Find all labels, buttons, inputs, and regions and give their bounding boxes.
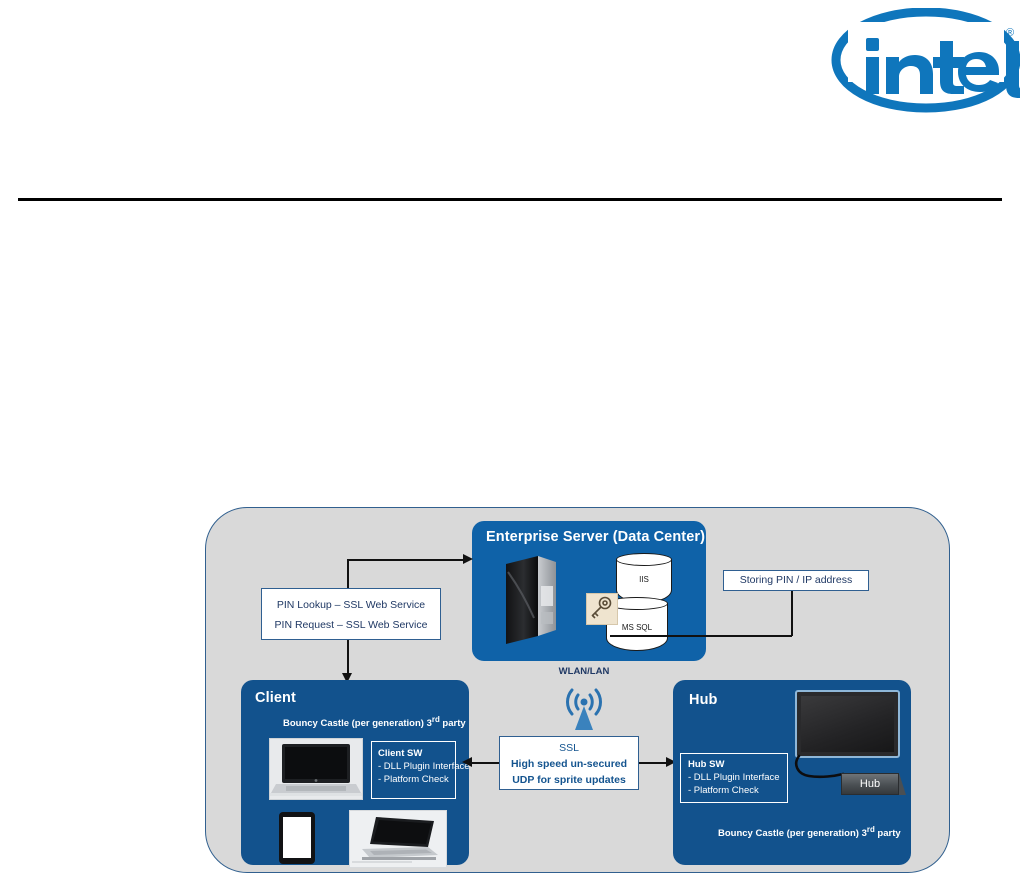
hub-sw-item-platform: - Platform Check [688, 784, 787, 797]
client-sw-item-dll: - DLL Plugin Interface [378, 760, 455, 773]
client-title: Client [255, 690, 296, 706]
ssl-label: SSL [500, 740, 638, 756]
client-bouncy-sup: rd [432, 715, 440, 724]
hub-bouncy-suffix: party [875, 828, 901, 839]
tablet-screen [283, 817, 311, 858]
storing-pin-callout: Storing PIN / IP address [723, 570, 869, 591]
pin-lookup-label: PIN Lookup – SSL Web Service [262, 595, 440, 615]
hub-title: Hub [689, 692, 718, 708]
database-iis-label: IIS [616, 575, 672, 584]
ssl-line-udp: UDP for sprite updates [500, 772, 638, 788]
ssl-to-client-line [471, 762, 500, 764]
architecture-diagram: Enterprise Server (Data Center) [205, 507, 950, 873]
hub-sw-item-dll: - DLL Plugin Interface [688, 771, 787, 784]
hub-node: Hub Hub Hub SW - DLL Plugin Interface - … [673, 680, 911, 865]
server-tower-icon [504, 556, 560, 644]
hub-bouncy-sup: rd [867, 825, 875, 834]
storing-pin-leader-vertical [791, 591, 793, 636]
client-bouncy-suffix: party [440, 718, 466, 729]
tv-screen [801, 696, 894, 752]
storing-pin-leader-horizontal [610, 635, 792, 637]
hub-sw-title: Hub SW [688, 758, 787, 771]
arrow-to-server-head [463, 554, 473, 564]
key-icon [586, 593, 618, 625]
client-sw-item-platform: - Platform Check [378, 773, 455, 786]
ssl-line-highspeed: High speed un-secured [500, 756, 638, 772]
client-laptop-image-2 [349, 810, 447, 868]
arrow-client-to-server-line [347, 559, 465, 561]
client-bouncy-castle-label: Bouncy Castle (per generation) 3rd party [283, 715, 466, 729]
page-header: ® [0, 0, 1020, 200]
hub-device-label: Hub [841, 773, 899, 795]
registered-mark: ® [1006, 27, 1014, 39]
client-sw-box: Client SW - DLL Plugin Interface - Platf… [371, 741, 456, 799]
ssl-to-hub-line [639, 762, 668, 764]
hub-bouncy-prefix: Bouncy Castle (per generation) 3 [718, 828, 867, 839]
wlan-lan-label: WLAN/LAN [539, 666, 629, 677]
header-divider-rule [18, 198, 1002, 201]
client-sw-title: Client SW [378, 747, 455, 760]
hub-device-side [899, 770, 906, 795]
intel-logo: ® [830, 8, 1020, 113]
pin-service-label-box: PIN Lookup – SSL Web Service PIN Request… [261, 588, 441, 640]
client-laptop-image [269, 738, 363, 800]
arrow-up-segment [347, 559, 349, 589]
database-iis: IIS [616, 553, 672, 603]
hub-bouncy-castle-label: Bouncy Castle (per generation) 3rd party [718, 825, 901, 839]
hub-sw-box: Hub SW - DLL Plugin Interface - Platform… [680, 753, 788, 803]
ssl-to-client-arrowhead [462, 757, 472, 767]
tv-display-icon [795, 690, 900, 758]
enterprise-server-title: Enterprise Server (Data Center) [486, 529, 705, 545]
ssl-protocol-box: SSL High speed un-secured UDP for sprite… [499, 736, 639, 790]
enterprise-server-node: Enterprise Server (Data Center) [472, 521, 706, 661]
client-node: Client Bouncy Castle (per generation) 3r… [241, 680, 469, 865]
arrow-to-client-line [347, 640, 349, 676]
client-bouncy-prefix: Bouncy Castle (per generation) 3 [283, 718, 432, 729]
wireless-signal-icon [548, 682, 620, 734]
tablet-icon [279, 812, 315, 864]
pin-request-label: PIN Request – SSL Web Service [262, 615, 440, 635]
